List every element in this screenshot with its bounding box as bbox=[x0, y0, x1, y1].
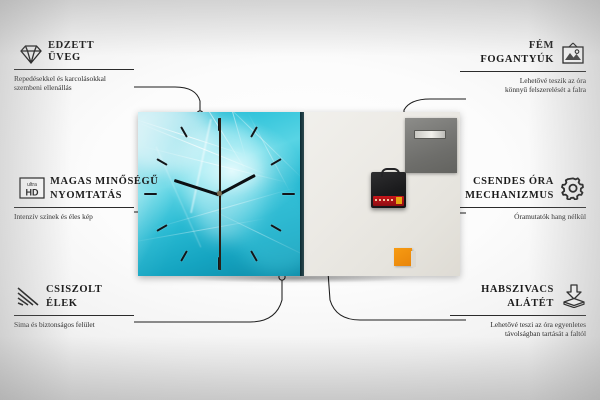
callout-divider bbox=[14, 69, 134, 70]
callout-desc-line2: könnyű felszerelését a falra bbox=[460, 85, 586, 94]
callout-divider bbox=[460, 71, 586, 72]
callout-silent-mechanism: CSENDES ÓRA MECHANIZMUS Óramutatók hang … bbox=[460, 176, 586, 221]
callout-title-line1: MAGAS MINŐSÉGŰ bbox=[50, 176, 138, 188]
callout-title-line1: FÉM bbox=[460, 40, 554, 52]
callout-desc-line1: Óramutatók hang nélkül bbox=[460, 212, 586, 221]
svg-text:HD: HD bbox=[26, 188, 39, 198]
callout-divider bbox=[14, 315, 134, 316]
callout-title-line2: ÜVEG bbox=[48, 52, 138, 64]
callout-title-line2: MECHANIZMUS bbox=[460, 190, 554, 202]
callout-desc-line1: Lehetővé teszik az óra bbox=[460, 76, 586, 85]
callout-desc-line1: Intenzív színek és éles kép bbox=[14, 212, 138, 221]
mechanism-loop bbox=[381, 168, 400, 177]
infographic-canvas: EDZETT ÜVEG Repedésekkel és karcolásokka… bbox=[0, 0, 600, 400]
clock-front-panel bbox=[138, 112, 300, 276]
foam-pad-arrow-icon bbox=[560, 284, 586, 308]
callout-high-quality-print: ultra HD MAGAS MINŐSÉGŰ NYOMTATÁS Intenz… bbox=[14, 176, 138, 221]
clock-mechanism-part bbox=[371, 172, 406, 208]
glass-edge bbox=[300, 112, 304, 276]
callout-desc-line1: Lehetővé teszi az óra egyenletes bbox=[450, 320, 586, 329]
clock-hour-hand bbox=[218, 174, 256, 196]
metal-hanger-part bbox=[405, 118, 457, 173]
clock-dial bbox=[138, 112, 300, 276]
callout-title-line2: NYOMTATÁS bbox=[50, 190, 138, 202]
battery bbox=[373, 196, 404, 206]
diamond-icon bbox=[18, 42, 44, 66]
callout-divider bbox=[450, 315, 586, 316]
callout-title-line1: HABSZIVACS bbox=[450, 284, 554, 296]
callout-tempered-glass: EDZETT ÜVEG Repedésekkel és karcolásokka… bbox=[14, 40, 138, 93]
ultra-hd-icon: ultra HD bbox=[18, 176, 44, 200]
bevel-lines-icon bbox=[16, 285, 42, 309]
hanger-slot bbox=[414, 130, 446, 139]
foam-pad-part bbox=[394, 248, 412, 266]
callout-polished-edges: CSISZOLT ÉLEK Sima és biztonságos felüle… bbox=[14, 284, 138, 329]
callout-desc-line1: Repedésekkel és karcolásokkal bbox=[14, 74, 138, 83]
callout-desc-line2: szembeni ellenállás bbox=[14, 83, 138, 92]
callout-title-line2: ÉLEK bbox=[46, 298, 138, 310]
callout-desc-line2: távolságban tartását a faltól bbox=[450, 329, 586, 338]
clock-minute-hand bbox=[174, 179, 220, 197]
callout-title-line2: ALÁTÉT bbox=[450, 298, 554, 310]
callout-foam-backing: HABSZIVACS ALÁTÉT Lehetővé teszi az óra … bbox=[450, 284, 586, 339]
callout-title-line2: FOGANTYÚK bbox=[460, 54, 554, 66]
callout-metal-handles: FÉM FOGANTYÚK Lehetővé teszik az óra kön… bbox=[460, 40, 586, 95]
picture-frame-icon bbox=[560, 42, 586, 66]
callout-divider bbox=[14, 207, 134, 208]
callout-title-line1: CSISZOLT bbox=[46, 284, 138, 296]
clock-hub bbox=[217, 191, 222, 196]
gear-icon bbox=[560, 176, 586, 200]
callout-divider bbox=[460, 207, 586, 208]
callout-title-line1: EDZETT bbox=[48, 40, 138, 52]
callout-title-line1: CSENDES ÓRA bbox=[460, 176, 554, 188]
callout-desc-line1: Sima és biztonságos felület bbox=[14, 320, 138, 329]
